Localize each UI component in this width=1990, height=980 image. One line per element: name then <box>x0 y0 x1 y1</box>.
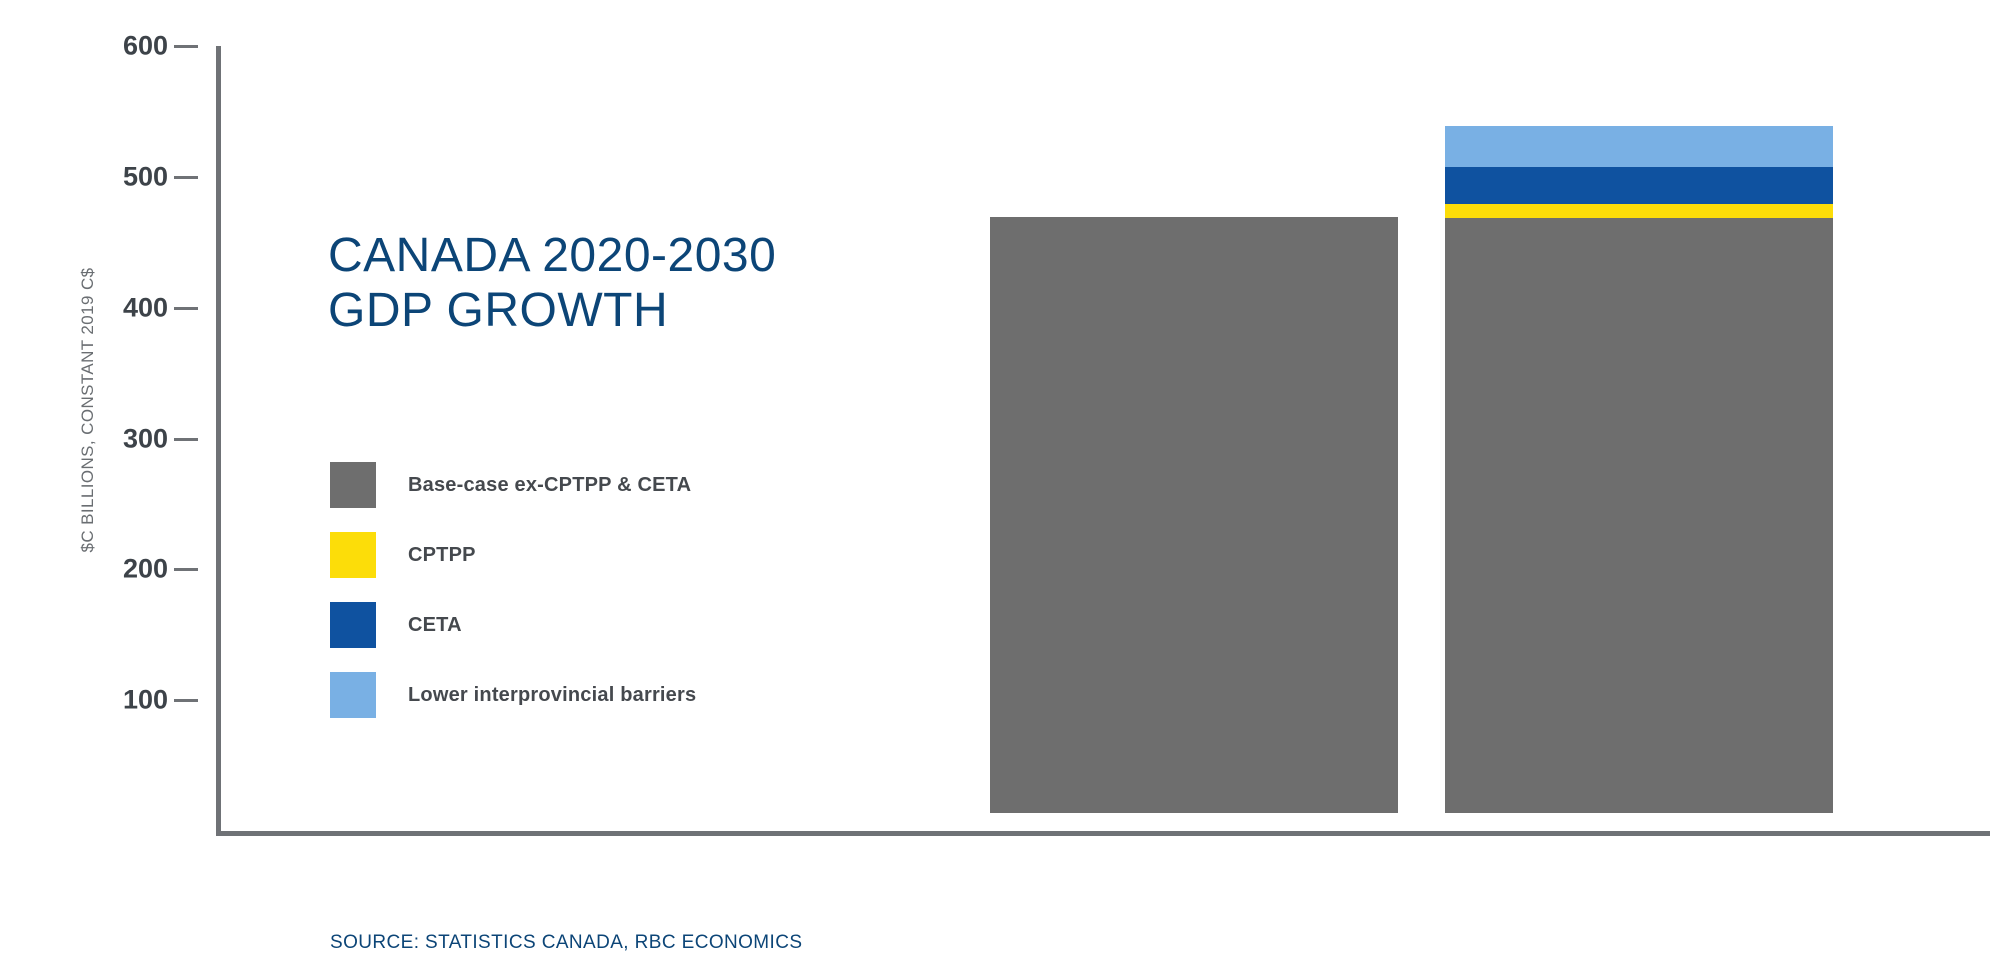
legend-swatch-icon <box>330 672 376 718</box>
y-tick-mark <box>174 176 198 179</box>
bar-segment <box>990 217 1398 813</box>
legend-item-label: Lower interprovincial barriers <box>408 684 696 707</box>
y-tick-mark <box>174 438 198 441</box>
legend-swatch-icon <box>330 462 376 508</box>
legend-swatch-icon <box>330 602 376 648</box>
bar-segment <box>1445 126 1833 167</box>
y-tick-mark <box>174 307 198 310</box>
legend-item[interactable]: Lower interprovincial barriers <box>330 660 696 730</box>
bar-segment <box>1445 204 1833 218</box>
bar-column[interactable] <box>990 217 1398 813</box>
legend-item-label: CETA <box>408 614 462 637</box>
y-tick-label: 300 <box>96 423 168 454</box>
legend-item[interactable]: Base-case ex-CPTPP & CETA <box>330 450 696 520</box>
source-note: SOURCE: STATISTICS CANADA, RBC ECONOMICS <box>330 932 802 954</box>
bar-segment <box>1445 167 1833 204</box>
legend-item[interactable]: CETA <box>330 590 696 660</box>
chart-canvas: $C BILLIONS, CONSTANT 2019 C$ 1002003004… <box>0 0 1990 980</box>
y-tick-mark <box>174 568 198 571</box>
y-tick-label: 400 <box>96 292 168 323</box>
y-tick-label: 500 <box>96 162 168 193</box>
y-axis-line <box>216 46 221 835</box>
chart-legend: Base-case ex-CPTPP & CETACPTPPCETALower … <box>330 450 696 730</box>
y-tick-mark <box>174 45 198 48</box>
legend-item-label: Base-case ex-CPTPP & CETA <box>408 474 691 497</box>
y-tick-label: 600 <box>96 31 168 62</box>
page-title: CANADA 2020-2030 GDP GROWTH <box>328 228 776 338</box>
bar-segment <box>1445 218 1833 813</box>
y-tick-label: 200 <box>96 554 168 585</box>
legend-swatch-icon <box>330 532 376 578</box>
bar-column[interactable] <box>1445 126 1833 813</box>
legend-item-label: CPTPP <box>408 544 476 567</box>
y-tick-label: 100 <box>96 685 168 716</box>
y-axis-title: $C BILLIONS, CONSTANT 2019 C$ <box>78 250 98 570</box>
y-tick-mark <box>174 699 198 702</box>
x-axis-line <box>216 831 1990 836</box>
legend-item[interactable]: CPTPP <box>330 520 696 590</box>
